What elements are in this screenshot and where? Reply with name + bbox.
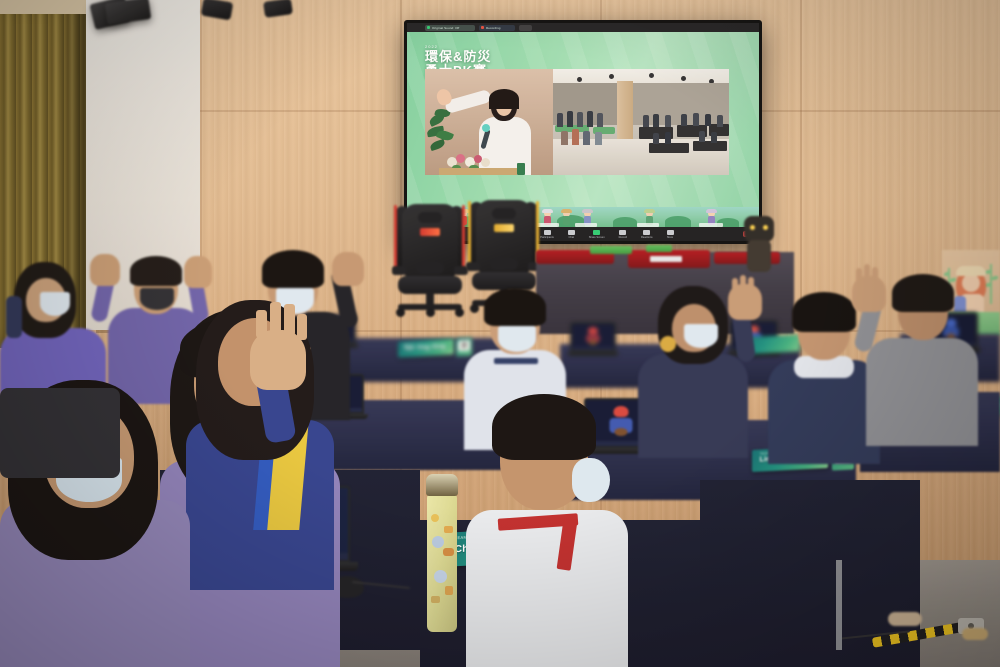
stand-pole [836, 560, 842, 650]
shoe [962, 628, 988, 640]
chat-label: Chat [569, 236, 574, 239]
zoom-toolbar-reactions[interactable]: Reactions [641, 230, 653, 239]
game-avatar [562, 210, 571, 225]
slide-kicker: 2022 [425, 45, 535, 49]
original-sound-pill[interactable]: Original Sound: Off [425, 25, 475, 31]
participants-label: Participants [540, 236, 554, 239]
zoom-toolbar-chat[interactable]: Chat [568, 230, 575, 239]
podium [439, 168, 517, 175]
window-controls[interactable] [519, 25, 532, 31]
more-label: More [667, 236, 673, 239]
zoom-top-bar: Original Sound: Off Recording [407, 23, 759, 32]
microphone-head [482, 124, 490, 132]
more-icon [667, 230, 674, 235]
papers-on-table [650, 256, 682, 262]
presenter-video-tile [425, 69, 553, 175]
share-screen-icon [593, 230, 600, 235]
green-equipment-box [590, 246, 632, 254]
status-dot-icon [427, 26, 430, 29]
curtain-rail [0, 0, 86, 14]
person-front-boy-center [452, 392, 642, 667]
presenter-hair [489, 89, 519, 109]
share-label: Share Screen [589, 236, 605, 239]
record-icon [619, 230, 626, 235]
shoe [888, 612, 922, 626]
water-bottle[interactable] [424, 474, 460, 632]
nameplate: TEAM Tan Ying Xing [398, 339, 454, 358]
presenter-arm [444, 89, 492, 114]
photo-scene: Original Sound: Off Recording 2022 環保&防災… [0, 0, 1000, 667]
cup [517, 163, 525, 175]
original-sound-label: Original Sound: Off [432, 26, 459, 30]
record-label: Record [619, 236, 627, 239]
green-equipment-box [646, 245, 672, 252]
mascot-figure [742, 216, 776, 272]
person-adult-right [862, 272, 1000, 442]
tile-pillar [617, 81, 633, 139]
chair-back [0, 388, 120, 478]
zoom-toolbar-more[interactable]: More [667, 230, 674, 239]
chat-icon [568, 230, 575, 235]
slide-title-line1: 環保&防災 [425, 50, 535, 64]
record-dot-icon [481, 26, 484, 29]
recording-label: Recording [486, 26, 501, 30]
zoom-toolbar-participants[interactable]: Participants [540, 230, 554, 239]
recording-pill[interactable]: Recording [479, 25, 515, 31]
reactions-label: Reactions [641, 236, 653, 239]
room-video-tile [553, 69, 729, 175]
participants-icon [544, 230, 551, 235]
zoom-toolbar-share[interactable]: Share Screen [589, 230, 605, 239]
person-front-jacket [174, 300, 354, 580]
reactions-icon [643, 230, 650, 235]
zoom-toolbar-record[interactable]: Record [619, 230, 627, 239]
